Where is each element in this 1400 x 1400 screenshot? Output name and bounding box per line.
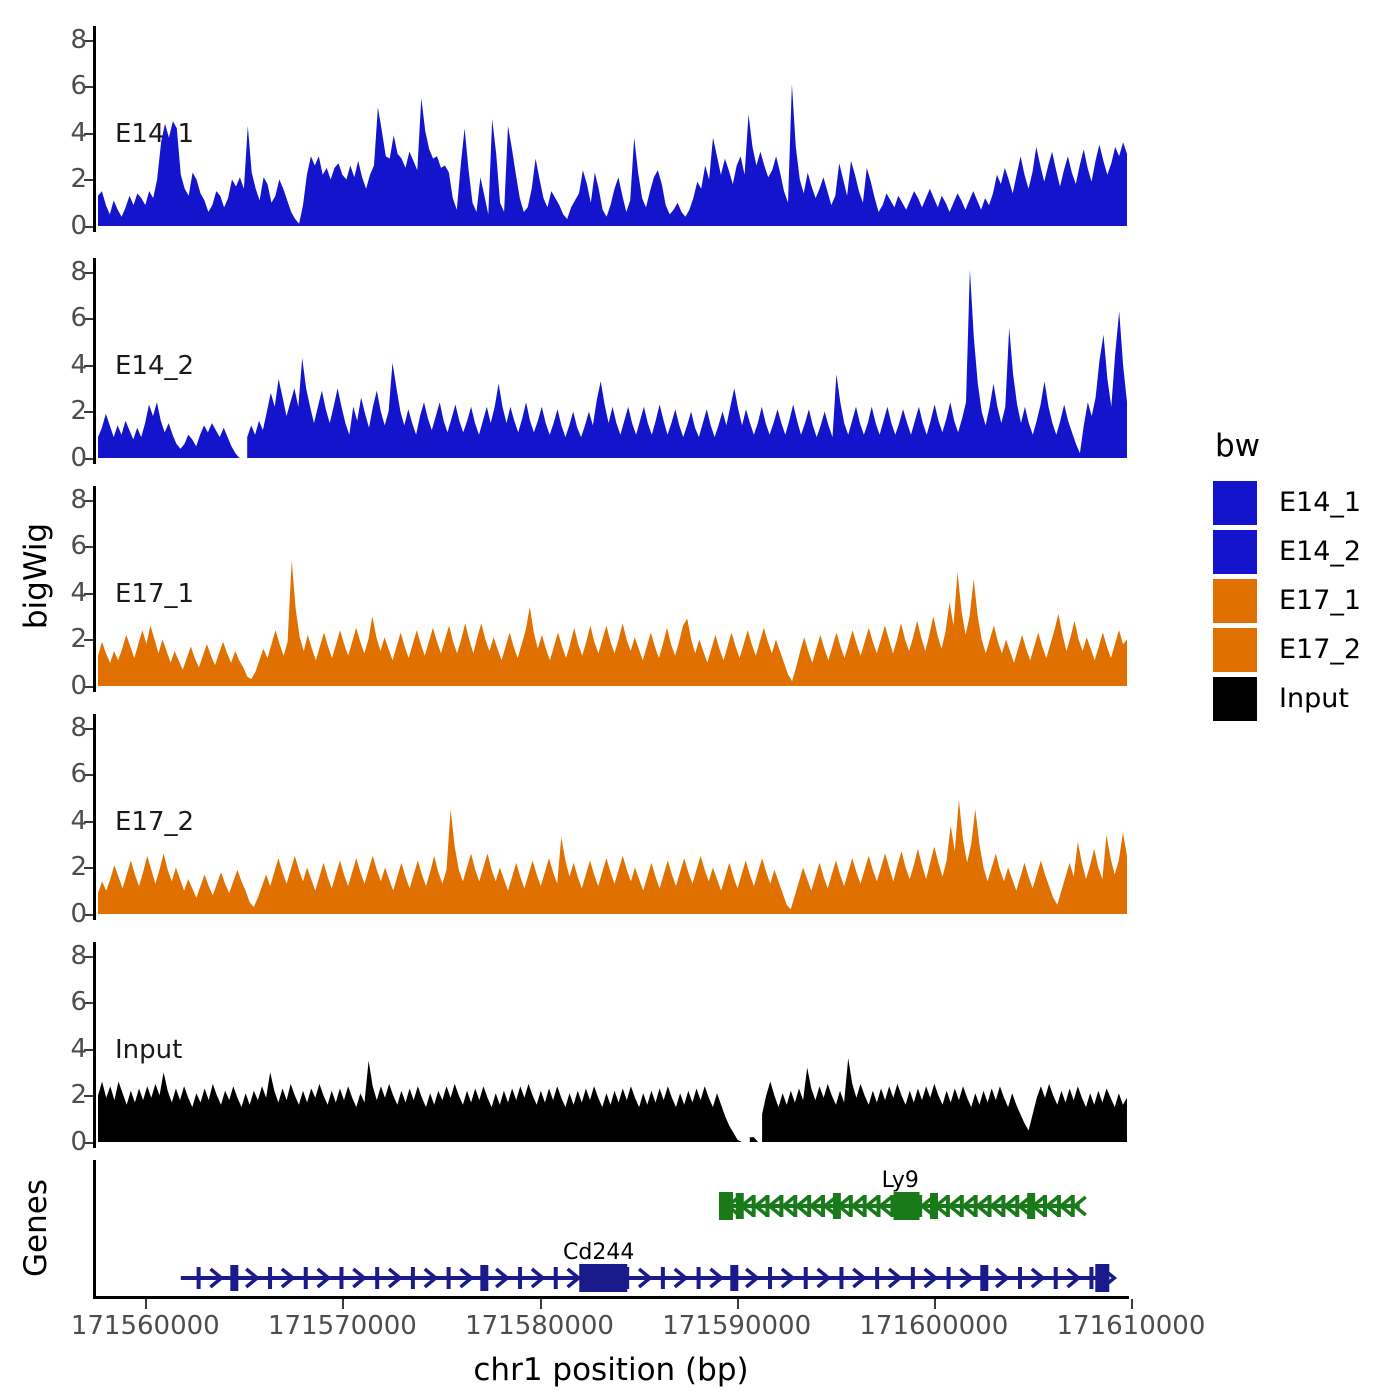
signal-track-e14_1: 02468E14_1 — [93, 26, 1129, 232]
gene-exon — [304, 1267, 308, 1289]
y-tick-label: 2 — [7, 854, 87, 880]
y-tick-label: 2 — [7, 166, 87, 192]
x-tick-label: 171560000 — [35, 1311, 255, 1341]
gene-exon — [447, 1267, 451, 1289]
gene-exon — [839, 1267, 843, 1289]
legend-label: E17_1 — [1279, 585, 1361, 616]
y-tick-label: 0 — [7, 673, 87, 699]
legend-item-input[interactable]: Input — [1213, 674, 1393, 723]
signal-polygon — [98, 402, 239, 458]
x-tick-label: 171600000 — [824, 1311, 1044, 1341]
y-tick-label: 0 — [7, 1129, 87, 1155]
x-axis-title: chr1 position (bp) — [93, 1352, 1129, 1388]
y-tick-label: 6 — [7, 305, 87, 331]
y-tick-label: 0 — [7, 213, 87, 239]
gene-exon — [411, 1267, 415, 1289]
y-tick-label: 4 — [7, 120, 87, 146]
legend-label: E14_1 — [1279, 487, 1361, 518]
gene-exon — [480, 1265, 488, 1291]
gene-exon — [197, 1267, 201, 1289]
x-tick-label: 171590000 — [627, 1311, 847, 1341]
y-tick-label: 8 — [7, 27, 87, 53]
x-tick — [934, 1299, 936, 1309]
x-tick — [342, 1299, 344, 1309]
gene-exon — [804, 1267, 808, 1289]
legend-swatch — [1213, 579, 1257, 623]
gene-exon — [947, 1267, 951, 1289]
y-tick-label: 2 — [7, 398, 87, 424]
strand-arrow — [1075, 1197, 1086, 1215]
gene-exon — [375, 1267, 379, 1289]
genes-axis-title: Genes — [14, 1160, 58, 1296]
signal-area-e14_1 — [96, 26, 1129, 228]
signal-polygon — [98, 1061, 742, 1142]
y-tick-label: 2 — [7, 1082, 87, 1108]
signal-track-e17_2: 02468E17_2 — [93, 714, 1129, 920]
x-tick — [145, 1299, 147, 1309]
gene-exon — [518, 1267, 522, 1289]
signal-area-e17_2 — [96, 714, 1129, 916]
signal-polygon — [750, 1137, 758, 1142]
gene-track-panel — [93, 1160, 1129, 1296]
gene-exon — [875, 1267, 879, 1289]
signal-area-e14_2 — [96, 258, 1129, 460]
legend-item-e17_1[interactable]: E17_1 — [1213, 576, 1393, 625]
x-tick — [737, 1299, 739, 1309]
legend: bw E14_1E14_2E17_1E17_2Input — [1213, 428, 1393, 723]
genome-browser-figure: bigWig Genes 02468E14_102468E14_202468E1… — [0, 0, 1400, 1400]
y-tick-label: 6 — [7, 73, 87, 99]
gene-exon — [1018, 1267, 1022, 1289]
gene-exon — [661, 1267, 665, 1289]
legend-item-e14_2[interactable]: E14_2 — [1213, 527, 1393, 576]
legend-swatch — [1213, 677, 1257, 721]
legend-item-e17_2[interactable]: E17_2 — [1213, 625, 1393, 674]
legend-items: E14_1E14_2E17_1E17_2Input — [1213, 478, 1393, 723]
x-axis-line — [93, 1296, 1129, 1299]
y-tick-label: 0 — [7, 445, 87, 471]
signal-area-e17_1 — [96, 486, 1129, 688]
y-tick-label: 4 — [7, 808, 87, 834]
y-tick-label: 8 — [7, 943, 87, 969]
legend-title: bw — [1213, 428, 1393, 464]
genes-axis-title-text: Genes — [18, 1179, 54, 1277]
signal-track-input: 02468Input — [93, 942, 1129, 1148]
gene-models-svg — [96, 1160, 1129, 1296]
gene-exon — [268, 1267, 272, 1289]
gene-exon-major — [894, 1192, 920, 1220]
signal-polygon — [98, 560, 1127, 686]
legend-swatch — [1213, 628, 1257, 672]
y-tick-label: 2 — [7, 626, 87, 652]
gene-label-ly9: Ly9 — [882, 1168, 919, 1193]
x-tick-label: 171580000 — [430, 1311, 650, 1341]
signal-track-e14_2: 02468E14_2 — [93, 258, 1129, 464]
y-tick-label: 6 — [7, 761, 87, 787]
y-tick-label: 8 — [7, 259, 87, 285]
y-tick-label: 4 — [7, 352, 87, 378]
legend-label: E17_2 — [1279, 634, 1361, 665]
x-tick-label: 171610000 — [1021, 1311, 1241, 1341]
y-tick-label: 8 — [7, 715, 87, 741]
legend-swatch — [1213, 530, 1257, 574]
gene-exon — [554, 1267, 558, 1289]
signal-area-input — [96, 942, 1129, 1144]
gene-exon — [1054, 1267, 1058, 1289]
legend-item-e14_1[interactable]: E14_1 — [1213, 478, 1393, 527]
signal-polygon — [762, 1058, 1127, 1142]
gene-exon — [339, 1267, 343, 1289]
y-tick-label: 8 — [7, 487, 87, 513]
x-tick — [540, 1299, 542, 1309]
y-tick-label: 0 — [7, 901, 87, 927]
gene-exon — [730, 1265, 738, 1291]
x-tick-label: 171570000 — [232, 1311, 452, 1341]
gene-exon — [980, 1265, 988, 1291]
signal-polygon — [98, 84, 1127, 226]
gene-exon — [697, 1267, 701, 1289]
signal-polygon — [98, 800, 1127, 914]
signal-polygon — [247, 270, 1127, 458]
gene-exon-terminal — [1095, 1264, 1109, 1292]
gene-exon — [768, 1267, 772, 1289]
y-tick-label: 4 — [7, 580, 87, 606]
y-tick-label: 6 — [7, 533, 87, 559]
gene-exon-terminal — [719, 1192, 733, 1220]
gene-exon-major — [579, 1264, 627, 1292]
legend-label: E14_2 — [1279, 536, 1361, 567]
gene-exon — [230, 1265, 238, 1291]
legend-swatch — [1213, 481, 1257, 525]
y-tick-label: 6 — [7, 989, 87, 1015]
legend-label: Input — [1279, 683, 1349, 714]
gene-label-cd244: Cd244 — [563, 1240, 634, 1265]
gene-exon — [911, 1267, 915, 1289]
y-tick-label: 4 — [7, 1036, 87, 1062]
x-tick — [1131, 1299, 1133, 1309]
gene-exon — [1089, 1267, 1093, 1289]
signal-track-e17_1: 02468E17_1 — [93, 486, 1129, 692]
